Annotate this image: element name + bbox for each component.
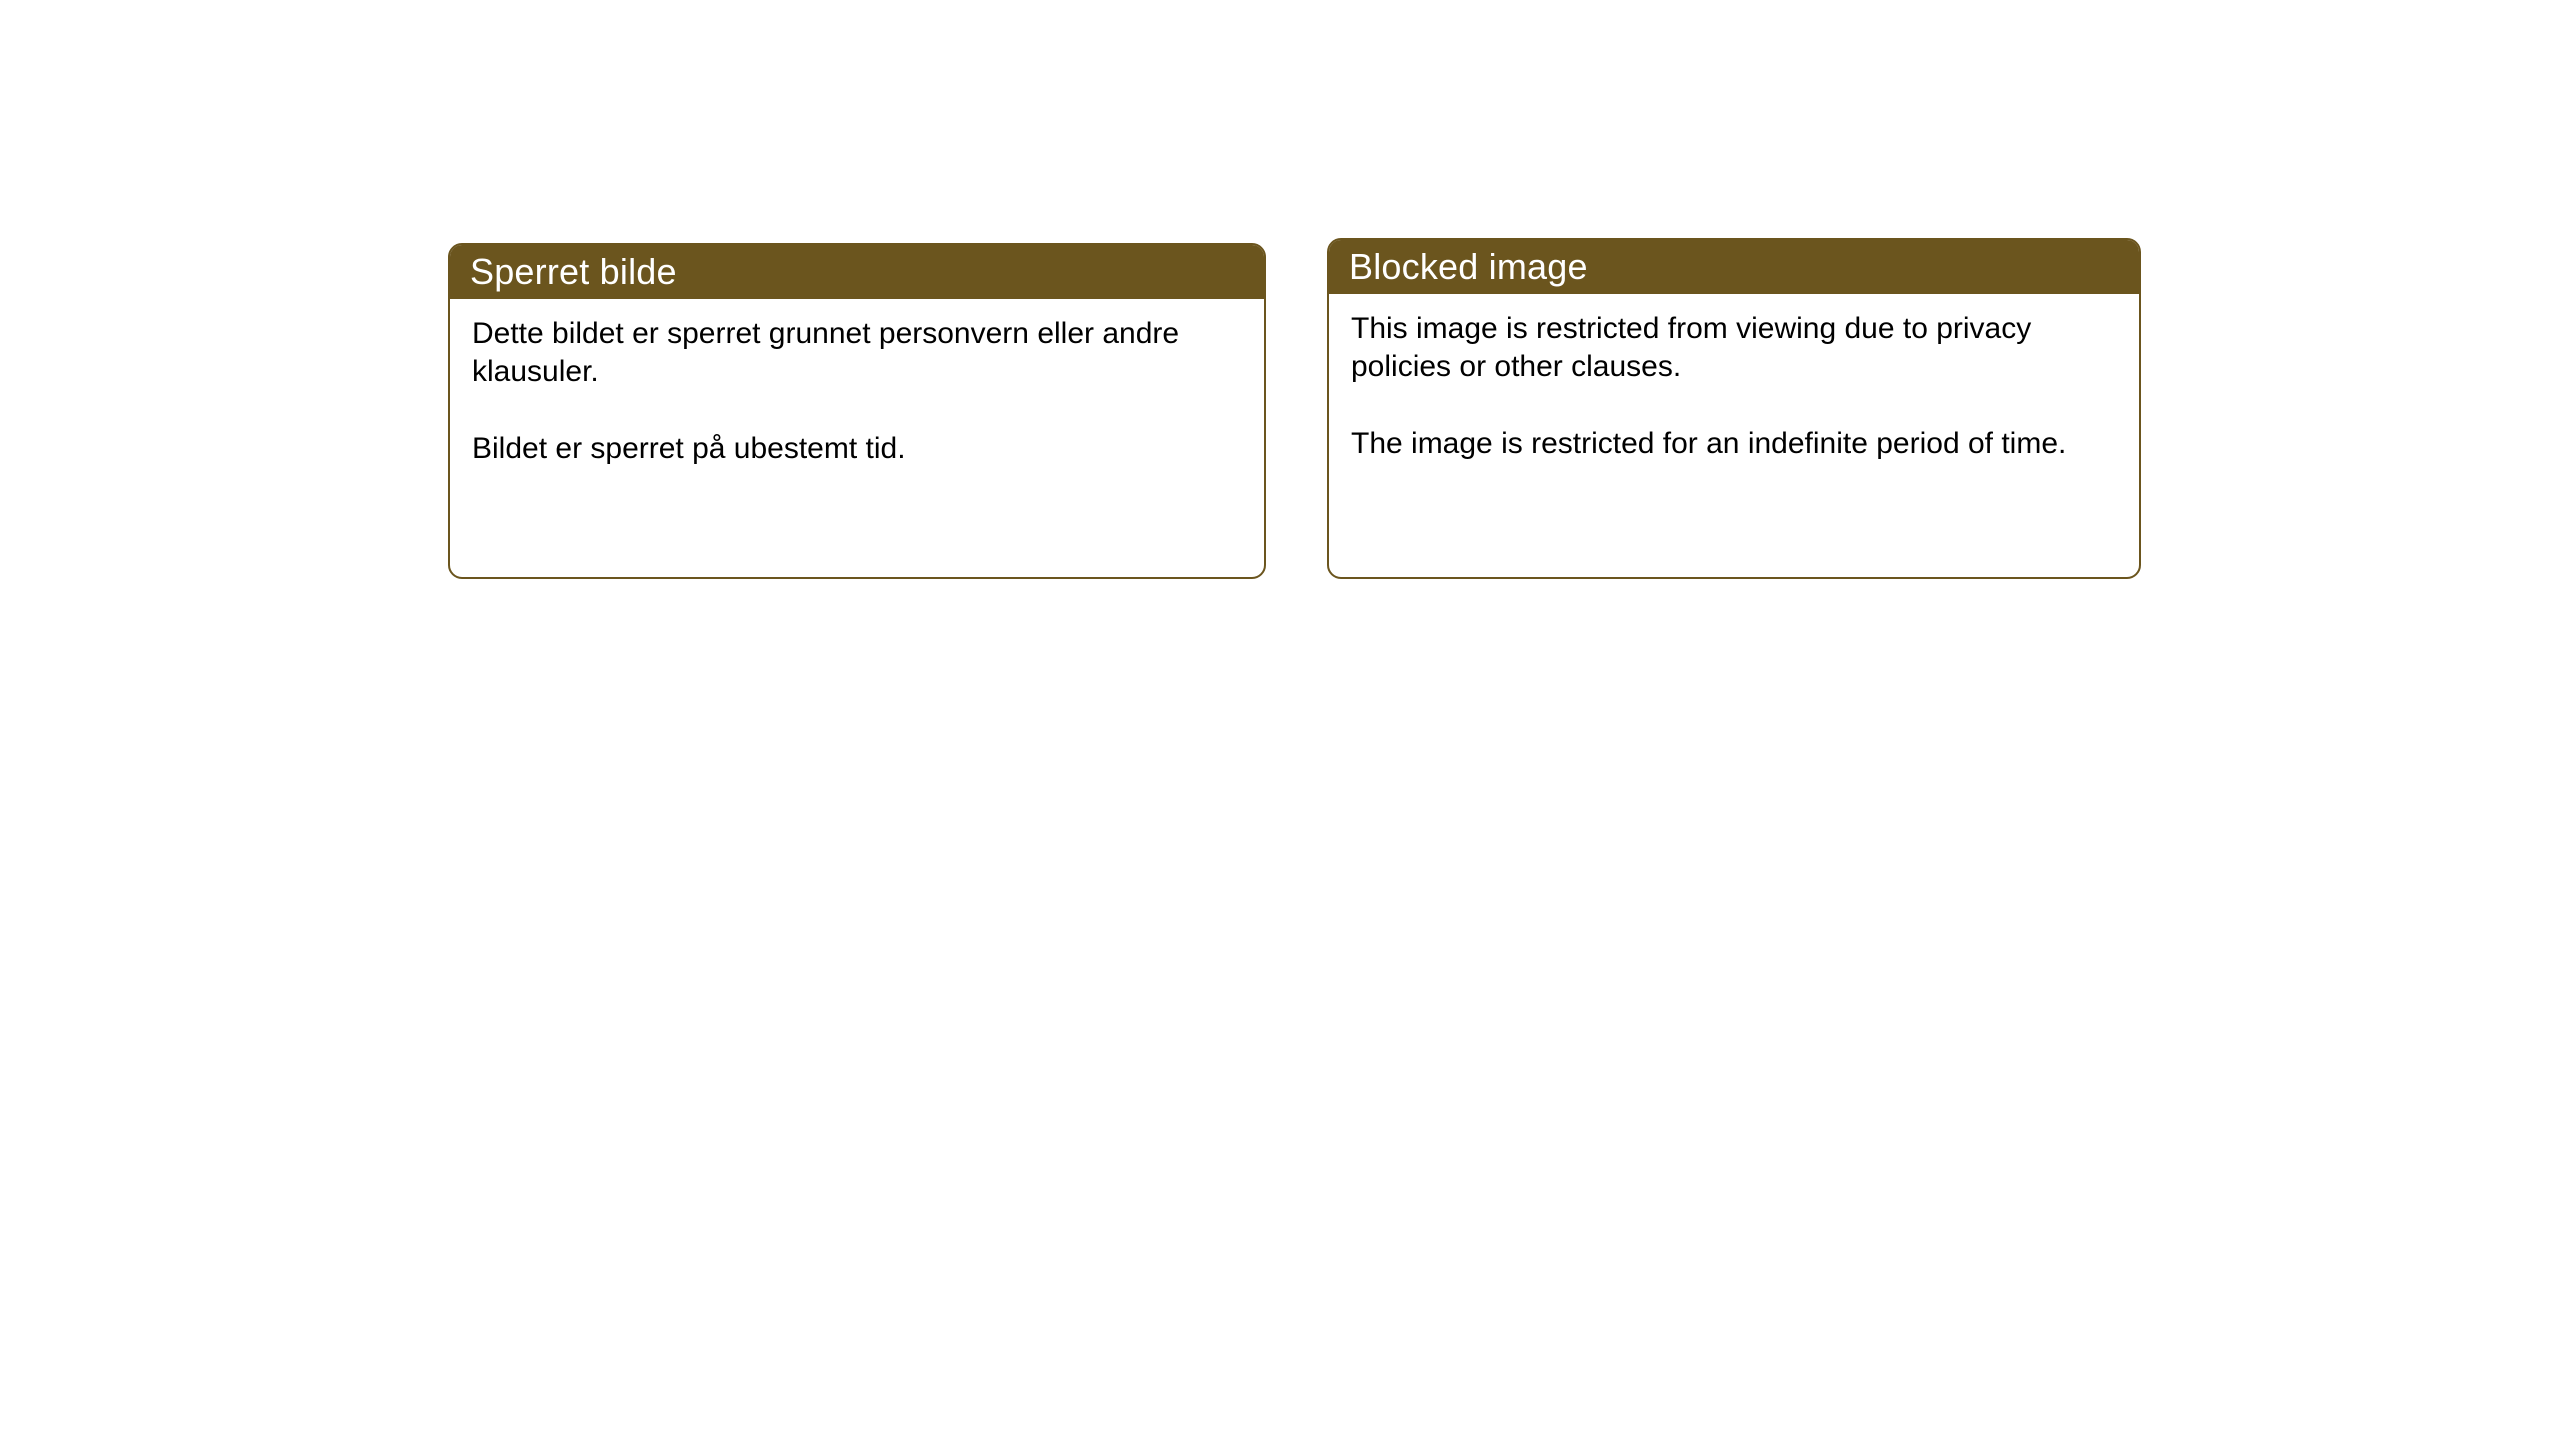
notice-paragraph-secondary-norwegian: Bildet er sperret på ubestemt tid. [472,430,1240,468]
notice-body-norwegian: Dette bildet er sperret grunnet personve… [450,299,1264,488]
notice-header-english: Blocked image [1327,238,2141,294]
blocked-image-notice-english: Blocked image This image is restricted f… [1327,238,2141,579]
blocked-image-notice-norwegian: Sperret bilde Dette bildet er sperret gr… [448,243,1266,579]
notice-paragraph-primary-norwegian: Dette bildet er sperret grunnet personve… [472,315,1240,392]
notice-body-english: This image is restricted from viewing du… [1329,294,2139,483]
notice-title-english: Blocked image [1349,249,1588,285]
notice-title-norwegian: Sperret bilde [470,254,677,290]
notice-header-norwegian: Sperret bilde [448,243,1266,299]
page-root: Sperret bilde Dette bildet er sperret gr… [0,0,2560,1440]
notice-paragraph-secondary-english: The image is restricted for an indefinit… [1351,425,2115,463]
notice-paragraph-primary-english: This image is restricted from viewing du… [1351,310,2115,387]
